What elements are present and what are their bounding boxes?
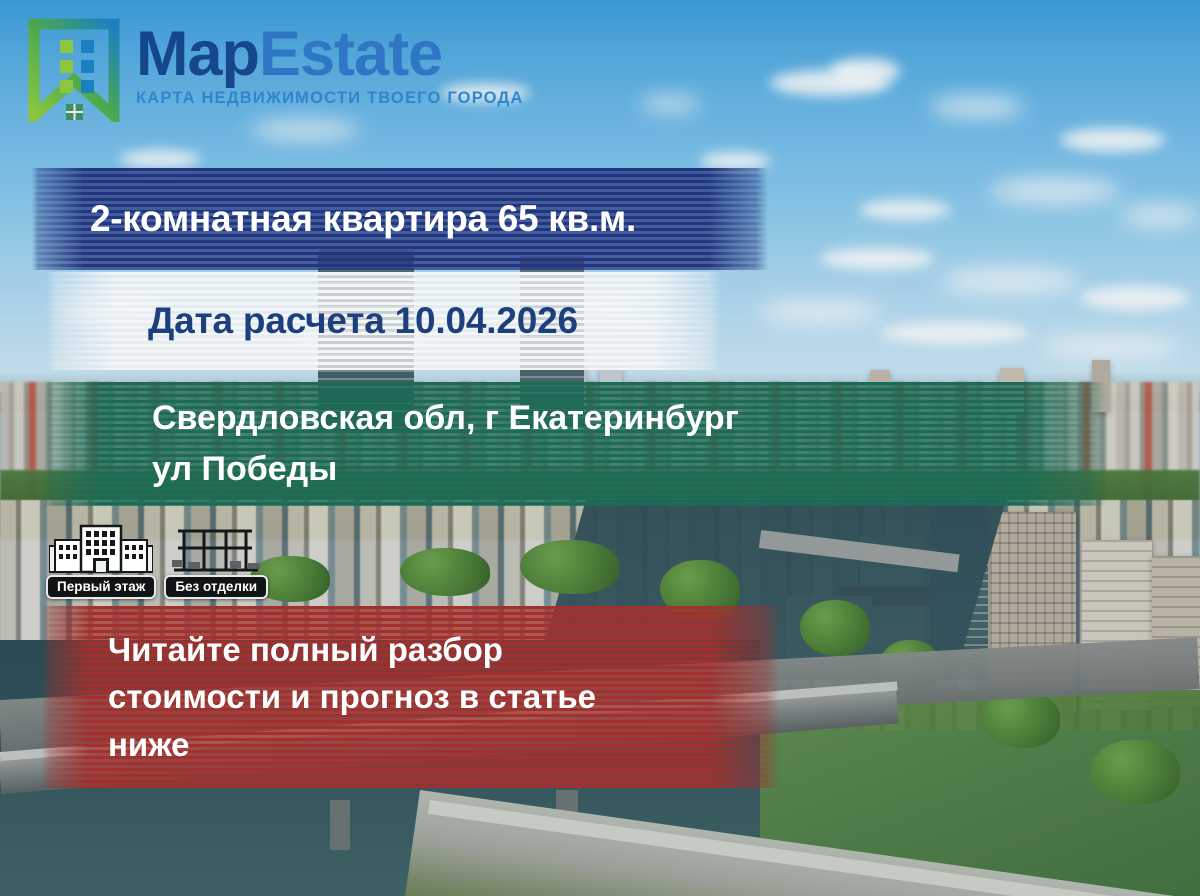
cta-line-1: Читайте полный разбор <box>108 626 780 673</box>
bookmark-building-icon <box>28 18 120 122</box>
badge-no-finishing[interactable]: Без отделки <box>164 524 268 599</box>
address-line-1: Свердловская обл, г Екатеринбург <box>152 393 1106 444</box>
cta-line-3: ниже <box>108 721 780 768</box>
badge-no-finishing-label: Без отделки <box>164 575 268 599</box>
property-feature-badges: Первый этаж <box>46 524 268 599</box>
calculation-date-text: Дата расчета 10.04.2026 <box>148 300 722 342</box>
property-title-text: 2-комнатная квартира 65 кв.м. <box>90 198 768 240</box>
promo-poster: MapEstate КАРТА НЕДВИЖИМОСТИ ТВОЕГО ГОРО… <box>0 0 1200 896</box>
address-text: Свердловская обл, г Екатеринбург ул Побе… <box>152 393 1106 495</box>
brand-name-estate: Estate <box>259 19 442 89</box>
cta-banner: Читайте полный разбор стоимости и прогно… <box>42 606 780 788</box>
apartment-building-icon <box>49 524 153 572</box>
cta-text: Читайте полный разбор стоимости и прогно… <box>108 626 780 768</box>
property-title-banner: 2-комнатная квартира 65 кв.м. <box>32 168 768 270</box>
badge-first-floor-label: Первый этаж <box>46 575 156 599</box>
brand-tagline: КАРТА НЕДВИЖИМОСТИ ТВОЕГО ГОРОДА <box>136 89 524 108</box>
brand-name: MapEstate <box>136 24 524 86</box>
bare-frame-construction-icon <box>168 524 264 572</box>
calculation-date-banner: Дата расчета 10.04.2026 <box>46 272 722 370</box>
brand-logo[interactable]: MapEstate КАРТА НЕДВИЖИМОСТИ ТВОЕГО ГОРО… <box>28 18 524 122</box>
address-line-2: ул Победы <box>152 444 1106 495</box>
brand-name-map: Map <box>136 19 259 89</box>
cta-line-2: стоимости и прогноз в статье <box>108 673 780 720</box>
badge-first-floor[interactable]: Первый этаж <box>46 524 156 599</box>
address-banner: Свердловская обл, г Екатеринбург ул Побе… <box>44 382 1106 506</box>
